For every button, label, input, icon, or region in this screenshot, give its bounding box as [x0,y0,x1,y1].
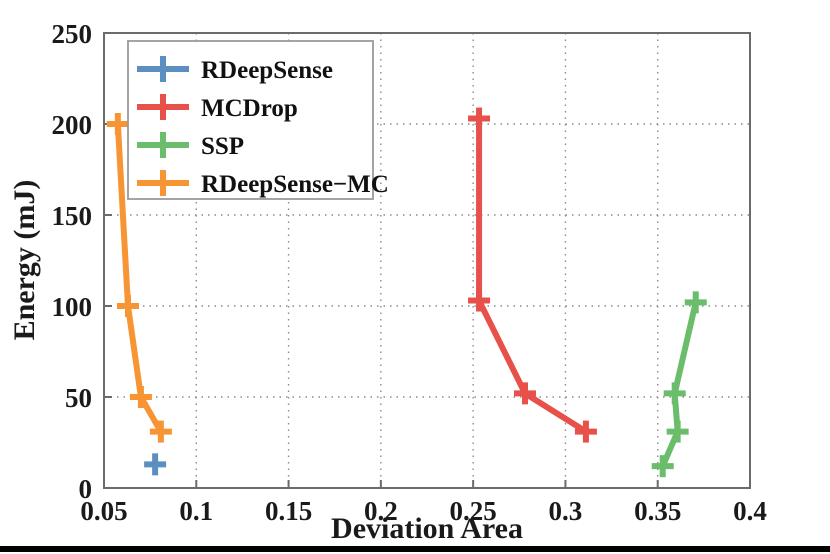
legend-entry-mcdrop[interactable]: MCDrop [137,94,298,122]
legend-label: RDeepSense [201,57,333,84]
y-tick-label: 0 [79,474,93,504]
x-tick-label: 0.15 [265,496,312,526]
bottom-divider [0,546,830,552]
legend-label: MCDrop [201,95,298,122]
x-axis-label: Deviation Area [331,512,523,545]
legend-label: RDeepSense−MC [201,171,389,198]
x-tick-label: 0.3 [549,496,583,526]
y-tick-label: 200 [52,110,93,140]
y-tick-label: 100 [52,292,93,322]
x-tick-label: 0.1 [179,496,213,526]
y-axis-label: Energy (mJ) [8,180,41,341]
y-tick-label: 50 [65,383,92,413]
x-tick-label: 0.35 [634,496,681,526]
energy-vs-deviation-area-chart: 0.050.10.150.20.250.30.350.4 05010015020… [0,0,830,554]
y-tick-label: 250 [52,19,93,49]
legend: RDeepSenseMCDropSSPRDeepSense−MC [128,41,389,199]
y-tick-label: 150 [52,201,93,231]
legend-label: SSP [201,133,244,160]
x-tick-label: 0.4 [733,496,767,526]
